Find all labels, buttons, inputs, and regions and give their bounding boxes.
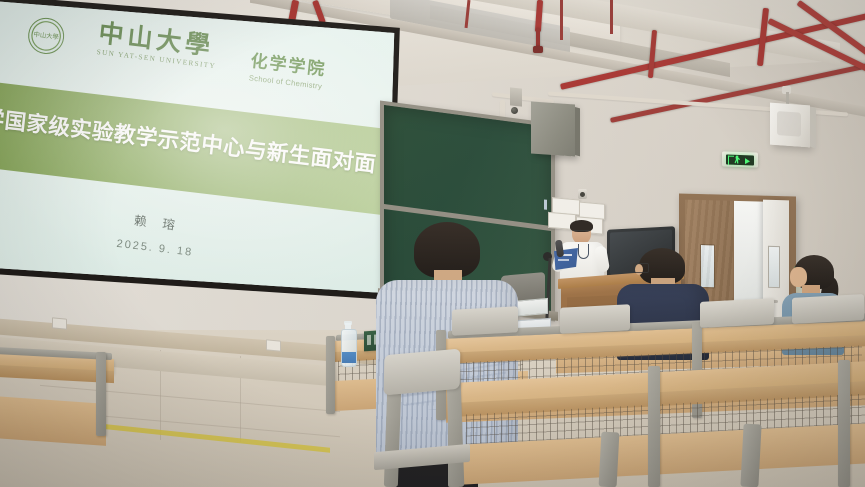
pipe-hanger-icon — [560, 0, 563, 40]
seat-back[interactable] — [560, 304, 630, 334]
desk-leg — [648, 366, 660, 487]
lecture-hall-photo: 中山大學 中山大學 SUN YAT-SEN UNIVERSITY 化学学院 Sc… — [0, 0, 865, 487]
university-name-block: 中山大學 SUN YAT-SEN UNIVERSITY — [96, 20, 219, 70]
face — [790, 267, 807, 287]
desk-leg — [838, 360, 850, 487]
desk-leg — [96, 352, 106, 436]
av-cabinet — [531, 101, 575, 156]
seat-back[interactable] — [700, 298, 774, 328]
exit-door-icon — [728, 155, 734, 165]
wall-socket[interactable] — [266, 339, 281, 352]
desk-leg — [326, 336, 335, 414]
exit-sign-glow — [726, 154, 754, 165]
screen-surface: 中山大學 中山大學 SUN YAT-SEN UNIVERSITY 化学学院 Sc… — [0, 0, 402, 308]
lanyard-icon — [578, 244, 589, 259]
security-camera-icon — [511, 107, 518, 114]
seat-back-foreground[interactable] — [384, 349, 461, 396]
bottle-body — [341, 329, 357, 367]
folder-text-line — [558, 259, 569, 261]
ceiling-camera-icon — [578, 189, 587, 199]
wall-socket[interactable] — [52, 317, 67, 330]
university-crest-icon: 中山大學 — [26, 16, 66, 56]
projection-screen: 中山大學 中山大學 SUN YAT-SEN UNIVERSITY 化学学院 Sc… — [0, 0, 416, 326]
electrical-box — [510, 87, 522, 106]
sprinkler-drop-icon — [536, 28, 540, 48]
exit-sign — [722, 151, 758, 167]
glasses-icon — [633, 263, 649, 273]
presentation-slide: 中山大學 中山大學 SUN YAT-SEN UNIVERSITY 化学学院 Sc… — [0, 0, 402, 308]
frame-mount-strip — [544, 199, 547, 209]
running-man-icon — [734, 155, 741, 163]
door-vision-panel — [768, 246, 780, 288]
chair-frame[interactable] — [599, 432, 620, 487]
desk-panel — [0, 396, 106, 446]
school-name-block: 化学学院 School of Chemistry — [248, 52, 327, 91]
bottle-label — [342, 352, 356, 363]
exit-arrow-icon — [745, 158, 750, 164]
wall-speaker — [770, 103, 810, 148]
crest-text: 中山大學 — [33, 31, 59, 40]
sprinkler-head-icon — [533, 46, 543, 53]
seat-back[interactable] — [792, 294, 864, 324]
chair-frame[interactable] — [740, 424, 761, 487]
presenter-glasses-icon — [573, 230, 590, 235]
water-bottle — [341, 321, 355, 365]
speaker-grill — [777, 111, 801, 137]
seat-back[interactable] — [452, 306, 518, 335]
pipe-hanger-icon — [610, 0, 613, 34]
